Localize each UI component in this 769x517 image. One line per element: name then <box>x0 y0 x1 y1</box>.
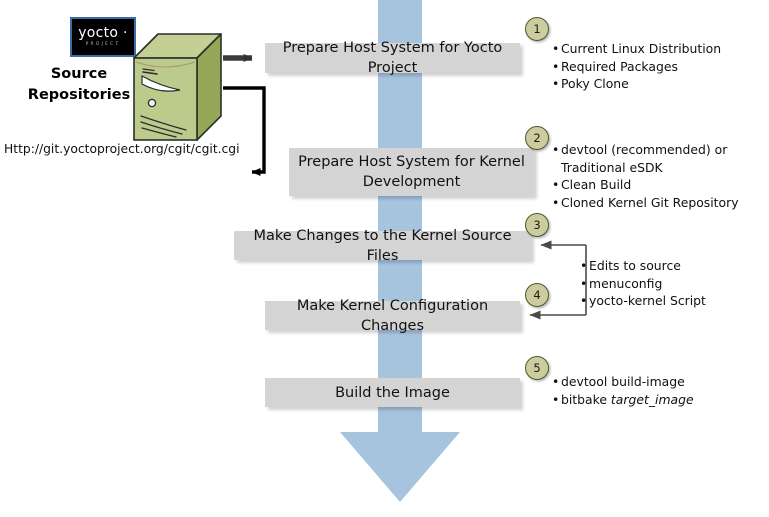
note-item: • Cloned Kernel Git Repository <box>552 194 762 212</box>
source-repositories-line1: Source <box>18 64 140 85</box>
note-text: bitbake <box>561 392 611 407</box>
note-text: Cloned Kernel Git Repository <box>561 194 762 212</box>
bullet-dot: • <box>552 58 561 76</box>
note-text: Required Packages <box>561 58 757 76</box>
bullet-dot: • <box>580 292 589 310</box>
process-box-step-2-label-line1: Prepare Host System for Kernel <box>298 152 525 172</box>
yocto-project-logo: yocto · PROJECT <box>70 17 136 57</box>
bullet-dot: • <box>552 391 561 409</box>
source-repositories-line2: Repositories <box>18 85 140 106</box>
step-marker-3-number: 3 <box>533 218 540 232</box>
yocto-logo-subtext: PROJECT <box>86 41 121 48</box>
server-tower-icon <box>130 32 222 144</box>
step-marker-1: 1 <box>525 17 549 41</box>
bullet-dot: • <box>552 176 561 194</box>
step-marker-4: 4 <box>525 283 549 307</box>
note-text: devtool build-image <box>561 373 757 391</box>
process-box-step-5-label: Build the Image <box>335 383 450 403</box>
step-marker-5: 5 <box>525 356 549 380</box>
note-item: • bitbake target_image <box>552 391 757 409</box>
diagram-canvas: yocto · PROJECT Source Repositories Http… <box>0 0 769 517</box>
notes-step-2: • devtool (recommended) or Traditional e… <box>552 141 762 211</box>
note-item: • menuconfig <box>580 275 765 293</box>
step-marker-2: 2 <box>525 126 549 150</box>
note-item: • Poky Clone <box>552 75 757 93</box>
process-box-step-3-label: Make Changes to the Kernel Source Files <box>242 226 523 266</box>
bullet-dot: • <box>552 141 561 159</box>
process-box-step-1[interactable]: Prepare Host System for Yocto Project <box>265 43 520 73</box>
note-item-continuation: Traditional eSDK <box>552 159 762 177</box>
note-item: • yocto-kernel Script <box>580 292 765 310</box>
step-marker-3: 3 <box>525 213 549 237</box>
process-box-step-2-label-line2: Development <box>363 172 461 192</box>
note-item: • devtool build-image <box>552 373 757 391</box>
process-box-step-4-label: Make Kernel Configuration Changes <box>273 296 512 336</box>
note-text: Clean Build <box>561 176 762 194</box>
process-box-step-2[interactable]: Prepare Host System for Kernel Developme… <box>289 148 534 196</box>
process-box-step-3[interactable]: Make Changes to the Kernel Source Files <box>234 231 531 260</box>
note-item: • Required Packages <box>552 58 757 76</box>
note-item: • Edits to source <box>580 257 765 275</box>
step-marker-4-number: 4 <box>533 288 540 302</box>
yocto-logo-wordmark: yocto · <box>78 26 128 40</box>
note-text: Poky Clone <box>561 75 757 93</box>
process-box-step-4[interactable]: Make Kernel Configuration Changes <box>265 301 520 330</box>
bullet-dot: • <box>552 75 561 93</box>
note-text: menuconfig <box>589 275 765 293</box>
step-marker-5-number: 5 <box>533 361 540 375</box>
note-item: • devtool (recommended) or <box>552 141 762 159</box>
step-marker-2-number: 2 <box>533 131 540 145</box>
notes-step-5: • devtool build-image • bitbake target_i… <box>552 373 757 408</box>
note-item: • Current Linux Distribution <box>552 40 757 58</box>
note-item: • Clean Build <box>552 176 762 194</box>
bullet-dot: • <box>580 275 589 293</box>
note-text: Edits to source <box>589 257 765 275</box>
note-text: Current Linux Distribution <box>561 40 757 58</box>
bullet-dot: • <box>552 40 561 58</box>
note-text-with-italic: bitbake target_image <box>561 391 757 409</box>
note-text: devtool (recommended) or <box>561 141 762 159</box>
source-repositories-label: Source Repositories <box>18 64 140 106</box>
note-text: yocto-kernel Script <box>589 292 765 310</box>
notes-step-1: • Current Linux Distribution • Required … <box>552 40 757 93</box>
bullet-dot: • <box>552 194 561 212</box>
bullet-dot: • <box>552 373 561 391</box>
process-box-step-1-label: Prepare Host System for Yocto Project <box>273 38 512 78</box>
note-text-italic: target_image <box>611 392 694 407</box>
source-repository-url: Http://git.yoctoproject.org/cgit/cgit.cg… <box>4 142 240 156</box>
process-box-step-5[interactable]: Build the Image <box>265 378 520 407</box>
bullet-dot: • <box>580 257 589 275</box>
step-marker-1-number: 1 <box>533 22 540 36</box>
note-text: Traditional eSDK <box>561 159 762 177</box>
notes-steps-3-and-4: • Edits to source • menuconfig • yocto-k… <box>580 257 765 310</box>
